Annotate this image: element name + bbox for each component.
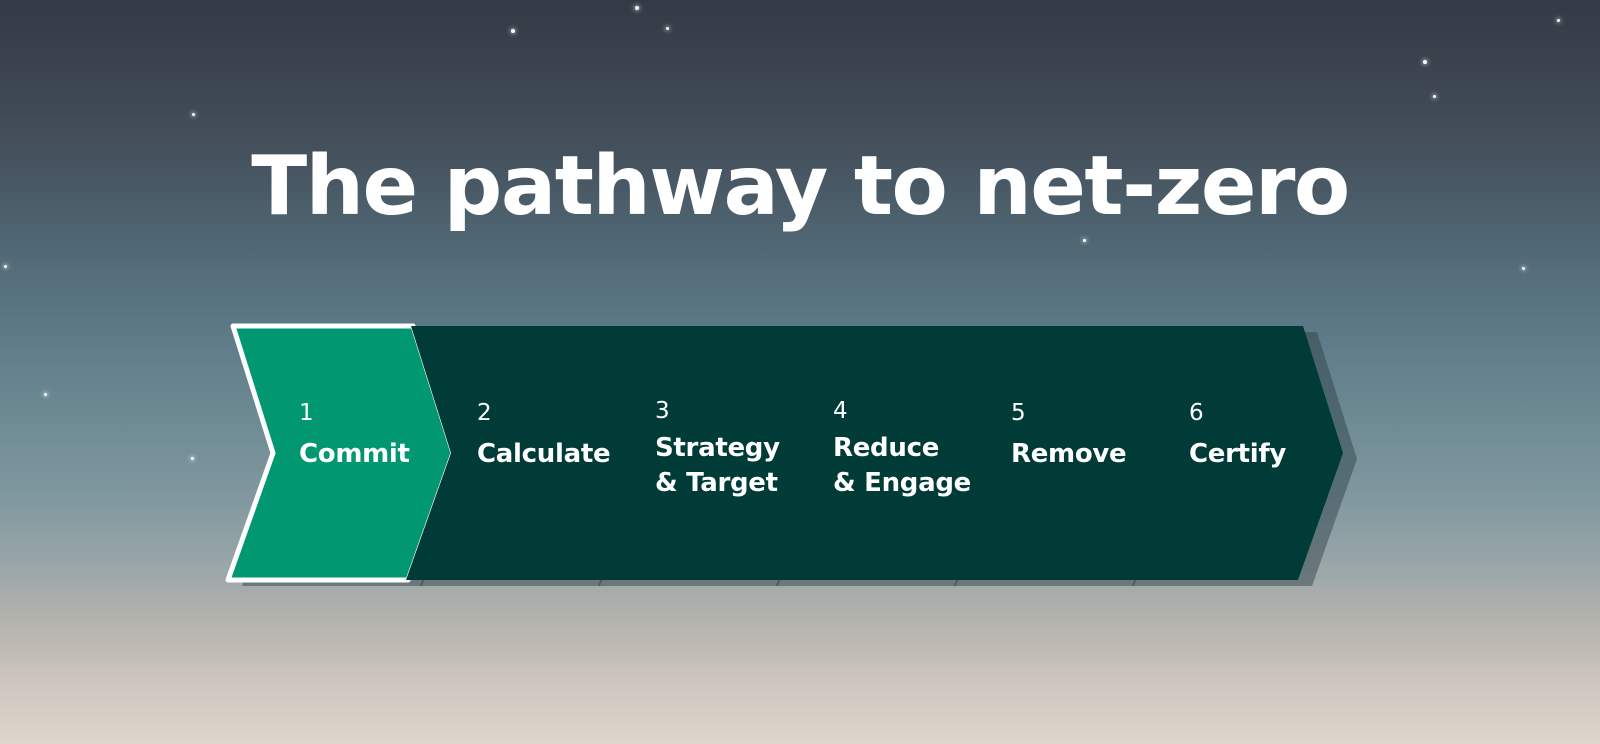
star-dot (192, 113, 195, 116)
page-title: The pathway to net-zero (251, 138, 1349, 236)
star-dot (4, 265, 7, 268)
star-dot (666, 27, 669, 30)
step-number: 3 (655, 398, 670, 424)
step-label-line2: & Engage (833, 468, 971, 498)
star-dot (511, 29, 515, 33)
star-dot (1557, 19, 1560, 22)
star-dot (1083, 239, 1086, 242)
star-dot (1433, 95, 1436, 98)
step-label-line1: Certify (1189, 439, 1286, 469)
step-number: 2 (477, 400, 492, 426)
step-label-line1: Reduce (833, 433, 939, 463)
step-number: 1 (299, 400, 314, 426)
star-dot (635, 6, 639, 10)
star-dot (1423, 60, 1427, 64)
step-label-line1: Remove (1011, 439, 1126, 469)
star-dot (1522, 267, 1525, 270)
chevron-layer: 1Commit2Calculate3Strategy& Target4Reduc… (228, 326, 1343, 580)
step-number: 4 (833, 398, 848, 424)
step-label-line1: Calculate (477, 439, 610, 469)
step-label-line1: Commit (299, 439, 410, 469)
step-label-line2: & Target (655, 468, 778, 498)
step-number: 5 (1011, 400, 1026, 426)
pathway-diagram: 1Commit2Calculate3Strategy& Target4Reduc… (0, 310, 1600, 600)
page-title-container: The pathway to net-zero (0, 138, 1600, 236)
step-label-line1: Strategy (655, 433, 780, 463)
step-number: 6 (1189, 400, 1204, 426)
pathway-step-1[interactable]: 1Commit (228, 326, 453, 580)
pathway-svg: 1Commit2Calculate3Strategy& Target4Reduc… (0, 310, 1600, 600)
